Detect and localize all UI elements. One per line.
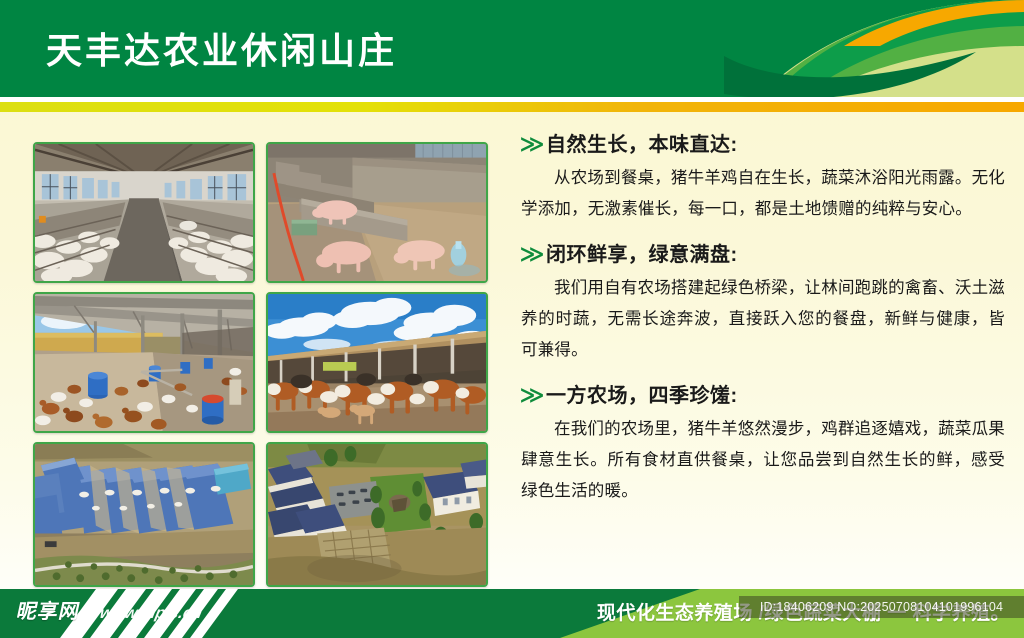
section-heading: ≫ 闭环鲜享，绿意满盘: bbox=[521, 242, 1011, 268]
section-body: 在我们的农场里，猪牛羊悠然漫步，鸡群追逐嬉戏，蔬菜瓜果肆意生长。所有食材直供餐桌… bbox=[521, 414, 1011, 507]
section-closed-loop: ≫ 闭环鲜享，绿意满盘: 我们用自有农场搭建起绿色桥梁，让林间跑跳的禽畜、沃土滋… bbox=[521, 242, 1011, 366]
photo-aerial-barn-rows bbox=[33, 442, 255, 587]
poster-header: 天丰达农业休闲山庄 bbox=[0, 0, 1024, 113]
section-title: 自然生长，本味直达: bbox=[546, 132, 738, 158]
section-four-seasons: ≫ 一方农场，四季珍馐: 在我们的农场里，猪牛羊悠然漫步，鸡群追逐嬉戏，蔬菜瓜果… bbox=[521, 383, 1011, 507]
header-yellow-stripe bbox=[0, 102, 1024, 112]
photo-cattle-yard bbox=[266, 292, 488, 433]
section-body: 我们用自有农场搭建起绿色桥梁，让林间跑跳的禽畜、沃土滋养的时蔬，无需长途奔波，直… bbox=[521, 273, 1011, 366]
swoosh-arc-icon bbox=[694, 0, 1024, 100]
section-heading: ≫ 一方农场，四季珍馐: bbox=[521, 383, 1011, 409]
section-heading: ≫ 自然生长，本味直达: bbox=[521, 132, 1011, 158]
poster-canvas: 天丰达农业休闲山庄 bbox=[0, 0, 1024, 638]
watermark-brand: 昵享网 bbox=[14, 600, 82, 624]
section-title: 一方农场，四季珍馐: bbox=[546, 383, 738, 409]
photo-sheep-barn-interior bbox=[33, 142, 255, 283]
page-title: 天丰达农业休闲山庄 bbox=[46, 30, 397, 72]
chevron-right-double-icon: ≫ bbox=[519, 384, 544, 408]
photo-grid bbox=[33, 142, 495, 587]
watermark-url: www.nipic.cn bbox=[98, 604, 204, 624]
chevron-right-double-icon: ≫ bbox=[519, 133, 544, 157]
chevron-right-double-icon: ≫ bbox=[519, 243, 544, 267]
photo-aerial-farm-compound bbox=[266, 442, 488, 587]
section-title: 闭环鲜享，绿意满盘: bbox=[546, 242, 738, 268]
section-natural-growth: ≫ 自然生长，本味直达: 从农场到餐桌，猪牛羊鸡自在生长，蔬菜沐浴阳光雨露。无化… bbox=[521, 132, 1011, 225]
id-watermark: ID:18406209 NO:20250708104101996104 bbox=[739, 596, 1024, 618]
swoosh-decoration-icon bbox=[694, 0, 1024, 100]
photo-free-range-chickens bbox=[33, 292, 255, 433]
photo-pig-pens bbox=[266, 142, 488, 283]
text-column: ≫ 自然生长，本味直达: 从农场到餐桌，猪牛羊鸡自在生长，蔬菜沐浴阳光雨露。无化… bbox=[521, 132, 1011, 507]
section-body: 从农场到餐桌，猪牛羊鸡自在生长，蔬菜沐浴阳光雨露。无化学添加，无激素催长，每一口… bbox=[521, 163, 1011, 225]
